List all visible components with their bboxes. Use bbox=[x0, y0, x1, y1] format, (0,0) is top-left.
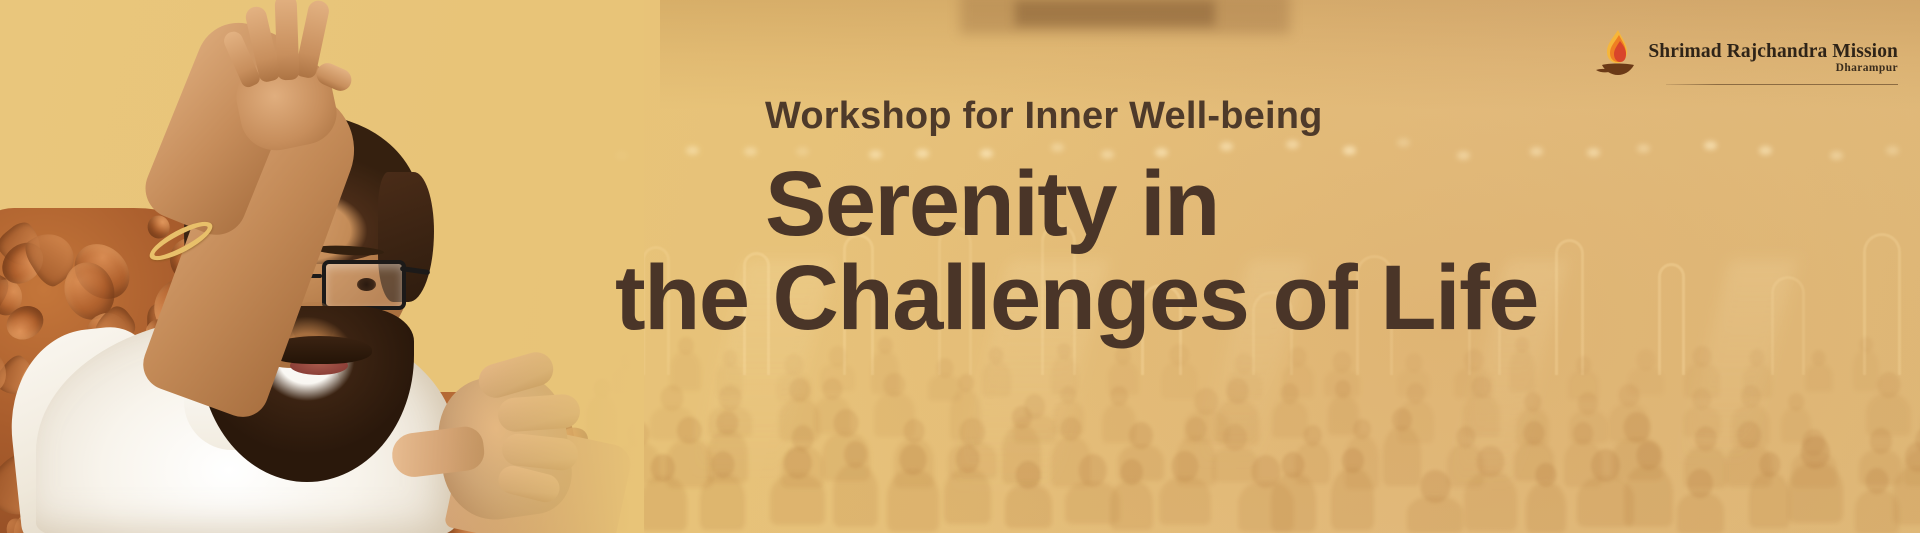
crowd-person bbox=[1859, 428, 1902, 485]
crowd-person bbox=[1904, 427, 1920, 486]
crowd-person-body bbox=[1053, 400, 1083, 434]
crowd-person-head bbox=[1405, 353, 1422, 373]
crowd-person bbox=[1110, 459, 1153, 529]
crowd-person-body bbox=[1516, 408, 1549, 445]
crowd-person bbox=[1159, 451, 1211, 525]
crowd-person-head bbox=[1695, 426, 1717, 451]
crowd-person-body bbox=[1509, 350, 1535, 392]
crowd-person bbox=[1212, 424, 1258, 482]
crowd-person-body bbox=[1684, 363, 1720, 397]
crowd-person-body bbox=[1051, 356, 1077, 395]
crowd-person-body bbox=[1118, 444, 1164, 481]
crowd-person bbox=[982, 347, 1011, 397]
crowd-person-body bbox=[1791, 451, 1837, 488]
crowd-person-head bbox=[1905, 442, 1920, 471]
crowd-person-body bbox=[1331, 468, 1374, 530]
logo-divider bbox=[1666, 84, 1898, 86]
crowd-person-head bbox=[1801, 436, 1829, 468]
crowd-person bbox=[1176, 417, 1216, 486]
crowd-person-head bbox=[1061, 386, 1077, 404]
logo-text-group: Shrimad Rajchandra Mission Dharampur bbox=[1648, 42, 1898, 78]
crowd-person-head bbox=[1016, 461, 1041, 489]
crowd-person-body bbox=[716, 363, 743, 395]
crowd-person-head bbox=[1877, 372, 1900, 398]
crowd-person-head bbox=[1195, 388, 1218, 415]
crowd-person-body bbox=[1805, 363, 1833, 391]
crowd-person bbox=[1684, 426, 1727, 488]
crowd-person-head bbox=[784, 354, 803, 376]
crowd-person-head bbox=[783, 447, 811, 479]
crowd-person-body bbox=[1904, 449, 1920, 486]
crowd-person-body bbox=[1788, 462, 1843, 523]
crowd-person bbox=[1324, 351, 1360, 397]
crowd-person bbox=[640, 454, 687, 531]
crowd-person bbox=[1609, 384, 1649, 443]
crowd-person bbox=[1407, 470, 1463, 533]
crowd-person-body bbox=[1726, 443, 1772, 486]
crowd-person-head bbox=[1234, 353, 1253, 375]
crowd-person bbox=[944, 445, 991, 524]
crowd-person-body bbox=[1345, 435, 1379, 489]
crowd-person bbox=[716, 350, 743, 395]
crowd-person-head bbox=[823, 378, 842, 400]
crowd-person-head bbox=[1865, 468, 1888, 494]
crowd-person-head bbox=[958, 374, 974, 393]
crowd-person-body bbox=[1226, 370, 1263, 400]
banner-text-block: Workshop for Inner Well-being Serenity i… bbox=[765, 96, 1895, 345]
crowd-person-head bbox=[1524, 421, 1545, 445]
crowd-person-head bbox=[1115, 347, 1131, 365]
crowd-person-body bbox=[1609, 403, 1649, 442]
crowd-person-body bbox=[1781, 407, 1811, 442]
crowd-person-head bbox=[1624, 412, 1651, 443]
crowd-person bbox=[1053, 386, 1083, 435]
crowd-person bbox=[1014, 394, 1056, 443]
crowd-person bbox=[1272, 383, 1308, 437]
crowd-person-body bbox=[770, 473, 824, 525]
crowd-person-body bbox=[640, 476, 687, 531]
crowd-person-body bbox=[1397, 369, 1430, 397]
crowd-person-head bbox=[1392, 408, 1412, 431]
crowd-person bbox=[1102, 386, 1136, 443]
crowd-person-head bbox=[1811, 350, 1826, 367]
crowd-person-head bbox=[1024, 394, 1046, 419]
crowd-person bbox=[1454, 349, 1492, 398]
crowd-person bbox=[1526, 463, 1567, 533]
crowd-person bbox=[1731, 385, 1770, 446]
crowd-person-head bbox=[1477, 446, 1504, 477]
banner-headline: Serenity in the Challenges of Life bbox=[765, 158, 1895, 346]
crowd-person bbox=[707, 411, 748, 484]
crowd-person-head bbox=[844, 441, 868, 468]
crowd-person-body bbox=[1328, 395, 1359, 436]
crowd-person bbox=[1624, 441, 1673, 527]
crowd-person-head bbox=[1693, 346, 1712, 367]
crowd-person bbox=[887, 444, 939, 532]
crowd-person-body bbox=[1749, 472, 1790, 529]
crowd-person bbox=[1226, 353, 1263, 400]
crowd-person-head bbox=[1750, 349, 1765, 366]
crowd-person-head bbox=[833, 409, 858, 437]
crowd-person bbox=[1743, 349, 1772, 398]
crowd-person bbox=[1282, 347, 1314, 398]
crowd-person-head bbox=[1802, 429, 1826, 456]
crowd-person-head bbox=[789, 378, 811, 403]
crowd-person-body bbox=[650, 406, 694, 440]
crowd-person-body bbox=[1065, 481, 1120, 525]
crowd-person bbox=[1569, 392, 1608, 443]
crowd-person bbox=[1463, 376, 1500, 437]
crowd-person-body bbox=[820, 363, 856, 391]
crowd-person-head bbox=[1464, 349, 1484, 372]
crowd-person-head bbox=[1171, 451, 1198, 482]
crowd-person-head bbox=[1578, 392, 1598, 415]
crowd-person-head bbox=[1576, 356, 1592, 374]
crowd-person-body bbox=[887, 469, 939, 532]
crowd-person bbox=[948, 418, 997, 480]
banner-eyebrow: Workshop for Inner Well-being bbox=[765, 96, 1895, 138]
crowd-person-head bbox=[719, 385, 742, 411]
crowd-person bbox=[1397, 353, 1430, 397]
crowd-person-head bbox=[1282, 452, 1305, 478]
crowd-person bbox=[1749, 452, 1790, 528]
crowd-person-body bbox=[1731, 404, 1770, 446]
crowd-person-body bbox=[948, 441, 997, 479]
crowd-person bbox=[1781, 393, 1811, 442]
crowd-person bbox=[1577, 449, 1634, 528]
crowd-person-head bbox=[1737, 421, 1761, 448]
headline-line-1: Serenity in bbox=[765, 158, 1895, 252]
crowd-person-body bbox=[1514, 441, 1555, 481]
crowd-person bbox=[894, 419, 934, 488]
crowd-person-body bbox=[1161, 361, 1198, 399]
crowd-person-head bbox=[1303, 425, 1321, 446]
crowd-person-body bbox=[1447, 444, 1484, 487]
crowd-person bbox=[1383, 408, 1422, 486]
crowd-person-body bbox=[1743, 363, 1772, 398]
crowd-person-body bbox=[666, 439, 712, 488]
crowd-person-body bbox=[779, 398, 820, 442]
crowd-person-body bbox=[781, 446, 824, 488]
crowd-person-body bbox=[944, 468, 991, 524]
eye-right bbox=[357, 278, 376, 291]
crowd-person bbox=[1855, 468, 1899, 533]
crowd-person-head bbox=[1636, 441, 1661, 470]
crowd-person-head bbox=[651, 454, 675, 482]
crowd-person-head bbox=[791, 425, 813, 451]
crowd-person bbox=[820, 346, 856, 391]
crowd-person-body bbox=[670, 351, 701, 391]
crowd-person bbox=[781, 425, 824, 488]
crowd-person bbox=[1628, 349, 1665, 395]
crowd-person bbox=[1564, 422, 1602, 487]
crowd-person bbox=[1398, 383, 1434, 443]
crowd-person-head bbox=[1421, 470, 1450, 503]
crowd-person-body bbox=[1398, 400, 1434, 443]
logo-subtitle: Dharampur bbox=[1648, 62, 1898, 76]
raised-hand bbox=[228, 0, 358, 146]
ceiling-light bbox=[686, 146, 699, 155]
crowd-person-body bbox=[1295, 442, 1331, 483]
crowd-person-body bbox=[1624, 465, 1673, 528]
crowd-person-body bbox=[982, 361, 1011, 398]
crowd-person-head bbox=[989, 347, 1004, 364]
crowd-person bbox=[1184, 388, 1229, 443]
crowd-person-body bbox=[833, 463, 879, 527]
crowd-person bbox=[822, 409, 870, 481]
crowd-person bbox=[1345, 419, 1379, 489]
crowd-person-body bbox=[1002, 425, 1041, 484]
crowd-person bbox=[874, 373, 915, 437]
crowd-person-head bbox=[1535, 463, 1556, 487]
crowd-person-body bbox=[1014, 414, 1056, 443]
crowd-person-head bbox=[1281, 383, 1300, 404]
crowd-person-head bbox=[1456, 426, 1475, 448]
crowd-person bbox=[1161, 344, 1198, 399]
crowd-person bbox=[1051, 417, 1092, 487]
stage-backdrop bbox=[960, 0, 1290, 34]
event-banner: Workshop for Inner Well-being Serenity i… bbox=[0, 0, 1920, 533]
crowd-person-head bbox=[1407, 383, 1426, 404]
crowd-person bbox=[1216, 378, 1260, 444]
crowd-person-body bbox=[871, 350, 899, 394]
crowd-person bbox=[1108, 347, 1139, 396]
crowd-person bbox=[1464, 446, 1516, 530]
crowd-person-body bbox=[1271, 473, 1316, 531]
crowd-person-body bbox=[1005, 483, 1052, 528]
crowd-person-body bbox=[1866, 393, 1911, 436]
crowd-person-body bbox=[1184, 410, 1229, 443]
crowd-person-head bbox=[1335, 380, 1351, 398]
crowd-person bbox=[1568, 356, 1598, 400]
crowd-person-head bbox=[1591, 449, 1621, 483]
crowd-person-body bbox=[1282, 363, 1314, 398]
crowd-person-head bbox=[1185, 417, 1206, 441]
crowd-person-body bbox=[874, 392, 915, 436]
crowd-person-head bbox=[711, 451, 734, 477]
crowd-person-head bbox=[661, 385, 684, 411]
crowd-person-head bbox=[1688, 469, 1713, 497]
crowd-person-head bbox=[1915, 427, 1920, 454]
crowd-person-body bbox=[1684, 446, 1727, 488]
crowd-person bbox=[770, 447, 824, 525]
crowd-person-body bbox=[950, 389, 981, 441]
headline-line-2: the Challenges of Life bbox=[615, 252, 1895, 346]
crowd-person bbox=[650, 385, 694, 440]
crowd-person bbox=[1677, 469, 1724, 533]
organization-logo[interactable]: Shrimad Rajchandra Mission Dharampur bbox=[1594, 28, 1898, 78]
crowd-person-body bbox=[1568, 370, 1598, 400]
crowd-person bbox=[1791, 429, 1837, 488]
crowd-person bbox=[1447, 426, 1484, 486]
crowd-person-body bbox=[1454, 367, 1492, 398]
crowd-person bbox=[776, 354, 813, 401]
crowd-person-body bbox=[822, 432, 870, 481]
crowd-person-head bbox=[1636, 349, 1655, 371]
crowd-person-head bbox=[1573, 422, 1593, 445]
crowd-person-head bbox=[1870, 428, 1892, 453]
stage-backdrop-inner bbox=[1015, 0, 1215, 26]
crowd-person-head bbox=[1472, 376, 1491, 398]
crowd-person-body bbox=[1216, 399, 1260, 444]
crowd-person-body bbox=[1564, 440, 1602, 487]
ceiling-light bbox=[744, 147, 757, 156]
crowd-person-body bbox=[1859, 449, 1902, 486]
crowd-person-head bbox=[1740, 385, 1760, 408]
crowd-person-head bbox=[936, 358, 953, 377]
crowd-person bbox=[1005, 461, 1052, 529]
crowd-person-head bbox=[1223, 424, 1247, 451]
crowd-person-head bbox=[1342, 448, 1364, 473]
crowd-person-head bbox=[1692, 388, 1712, 410]
crowd-person-body bbox=[1051, 436, 1092, 487]
crowd-person-body bbox=[1102, 403, 1136, 444]
crowd-person-head bbox=[1759, 452, 1780, 476]
crowd-person-body bbox=[1577, 476, 1634, 528]
crowd-person-body bbox=[1628, 367, 1665, 395]
crowd-person-body bbox=[1108, 361, 1139, 395]
crowd-person bbox=[1328, 380, 1359, 435]
crowd-person-body bbox=[1463, 394, 1500, 437]
crowd-person-head bbox=[1060, 417, 1081, 441]
crowd-person-body bbox=[1159, 476, 1211, 525]
crowd-person-body bbox=[1464, 471, 1516, 530]
crowd-person-head bbox=[1618, 384, 1639, 408]
crowd-person-head bbox=[959, 418, 985, 447]
crowd-person bbox=[779, 378, 820, 442]
crowd-person bbox=[1684, 346, 1720, 398]
crowd-person-body bbox=[928, 374, 961, 401]
crowd-person-body bbox=[1238, 481, 1294, 532]
crowd-person-body bbox=[1110, 480, 1153, 530]
crowd-person-head bbox=[1129, 422, 1153, 449]
crowd-person-head bbox=[1226, 378, 1249, 404]
crowd-person bbox=[950, 374, 981, 441]
crowd-person bbox=[1514, 421, 1555, 481]
crowd-person-head bbox=[904, 419, 925, 443]
crowd-person-body bbox=[1853, 349, 1879, 390]
speaker-portrait bbox=[0, 0, 644, 533]
crowd-person-head bbox=[1012, 406, 1032, 429]
crowd-person-head bbox=[1353, 419, 1371, 439]
crowd-person bbox=[814, 378, 851, 434]
crowd-person bbox=[1295, 425, 1331, 483]
crowd-person bbox=[1118, 422, 1164, 481]
crowd-person bbox=[1805, 350, 1833, 392]
crowd-person-body bbox=[1683, 406, 1721, 437]
crowd-person-head bbox=[1251, 455, 1280, 488]
crowd-person bbox=[700, 451, 745, 530]
portrait-fade-edge bbox=[444, 0, 644, 533]
crowd-person-body bbox=[1324, 369, 1360, 397]
crowd-person-body bbox=[707, 430, 748, 483]
crowd-person bbox=[1516, 392, 1549, 445]
crowd-person-body bbox=[1176, 436, 1216, 486]
crowd-person bbox=[1238, 455, 1294, 533]
crowd-person-head bbox=[828, 346, 847, 367]
crowd-person bbox=[1065, 454, 1120, 524]
crowd-person bbox=[1002, 406, 1041, 484]
crowd-person bbox=[1331, 448, 1374, 531]
crowd-person-body bbox=[776, 372, 813, 401]
crowd-person-body bbox=[1855, 489, 1899, 533]
crowd-person-body bbox=[1383, 426, 1422, 485]
crowd-person-body bbox=[708, 406, 752, 437]
crowd-person-head bbox=[1110, 386, 1128, 406]
crowd-person bbox=[833, 441, 879, 527]
crowd-person bbox=[1683, 388, 1721, 437]
crowd-person bbox=[1612, 412, 1664, 479]
crowd-person bbox=[1051, 343, 1077, 395]
crowd-person bbox=[1788, 436, 1843, 523]
crowd-person-body bbox=[1569, 410, 1608, 443]
crowd-person-head bbox=[1079, 454, 1108, 487]
crowd-person-body bbox=[1272, 400, 1308, 437]
crowd-person-head bbox=[1789, 393, 1804, 411]
crowd-person-head bbox=[1120, 459, 1143, 485]
crowd-person-head bbox=[884, 373, 905, 397]
crowd-person-body bbox=[700, 473, 745, 531]
logo-title: Shrimad Rajchandra Mission bbox=[1648, 42, 1898, 62]
crowd-person-head bbox=[723, 350, 737, 366]
crowd-person bbox=[1893, 442, 1920, 525]
crowd-person-body bbox=[814, 396, 851, 434]
crowd-person-head bbox=[1290, 347, 1307, 366]
crowd-person bbox=[928, 358, 961, 401]
crowd-person-body bbox=[1407, 496, 1463, 533]
crowd-person-head bbox=[677, 417, 701, 444]
crowd-person bbox=[1271, 452, 1316, 532]
crowd-person-body bbox=[894, 438, 934, 487]
crowd-person-head bbox=[717, 411, 738, 435]
crowd-person-body bbox=[1212, 446, 1258, 482]
crowd-person-body bbox=[1612, 437, 1664, 480]
crowd-person-body bbox=[1677, 492, 1724, 533]
crowd-person-head bbox=[1524, 392, 1541, 412]
crowd-person bbox=[1726, 421, 1772, 486]
crowd-person-head bbox=[955, 445, 979, 473]
crowd-person-head bbox=[900, 444, 927, 475]
crowd-person bbox=[708, 385, 752, 437]
crowd-person-head bbox=[1333, 351, 1352, 372]
crowd-person bbox=[1866, 372, 1911, 436]
diya-lamp-flame-icon bbox=[1594, 28, 1638, 78]
crowd-person-body bbox=[1526, 482, 1567, 533]
crowd-person-body bbox=[1893, 466, 1920, 525]
crowd-person bbox=[666, 417, 712, 488]
